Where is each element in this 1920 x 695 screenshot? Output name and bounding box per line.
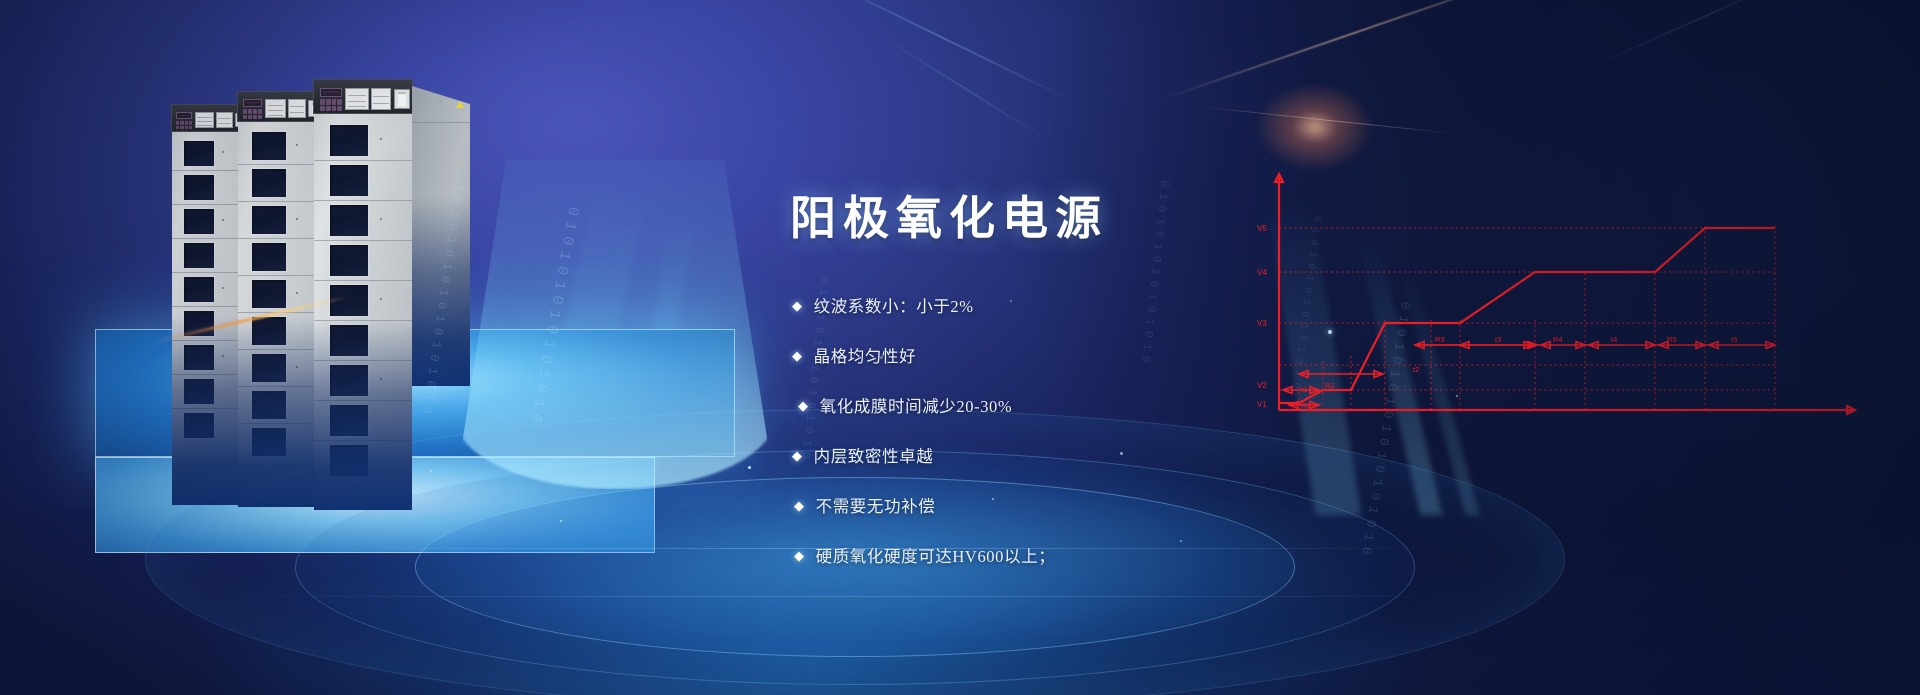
diamond-bullet-icon: ◆ xyxy=(794,499,805,512)
diamond-bullet-icon: ◆ xyxy=(792,349,803,362)
feature-text: 不需要无功补偿 xyxy=(816,493,936,517)
feature-text: 氧化成膜时间减少20-30% xyxy=(820,393,1013,417)
feature-item: ◆ 氧化成膜时间减少20-30% xyxy=(798,388,1352,422)
diamond-bullet-icon: ◆ xyxy=(792,449,803,462)
feature-item: ◆ 晶格均匀性好 xyxy=(792,338,1352,372)
feature-text: 内层致密性卓越 xyxy=(814,443,934,467)
feature-text: 硬质氧化硬度可达HV600以上； xyxy=(816,543,1056,567)
diamond-bullet-icon: ◆ xyxy=(794,549,805,562)
feature-list: ◆ 纹波系数小：小于2% ◆ 晶格均匀性好 ◆ 氧化成膜时间减少20-30% ◆… xyxy=(792,288,1352,588)
page-title: 阳极氧化电源 xyxy=(790,182,1108,248)
feature-item: ◆ 纹波系数小：小于2% xyxy=(792,288,1352,322)
feature-text: 纹波系数小：小于2% xyxy=(814,293,974,317)
diamond-bullet-icon: ◆ xyxy=(798,399,809,412)
banner-stage: · xyxy=(0,0,1920,695)
feature-item: ◆ 不需要无功补偿 xyxy=(794,488,1352,522)
feature-item: ◆ 硬质氧化硬度可达HV600以上； xyxy=(794,538,1352,572)
diamond-bullet-icon: ◆ xyxy=(792,299,803,312)
feature-item: ◆ 内层致密性卓越 xyxy=(792,438,1352,472)
feature-text: 晶格均匀性好 xyxy=(814,343,917,367)
